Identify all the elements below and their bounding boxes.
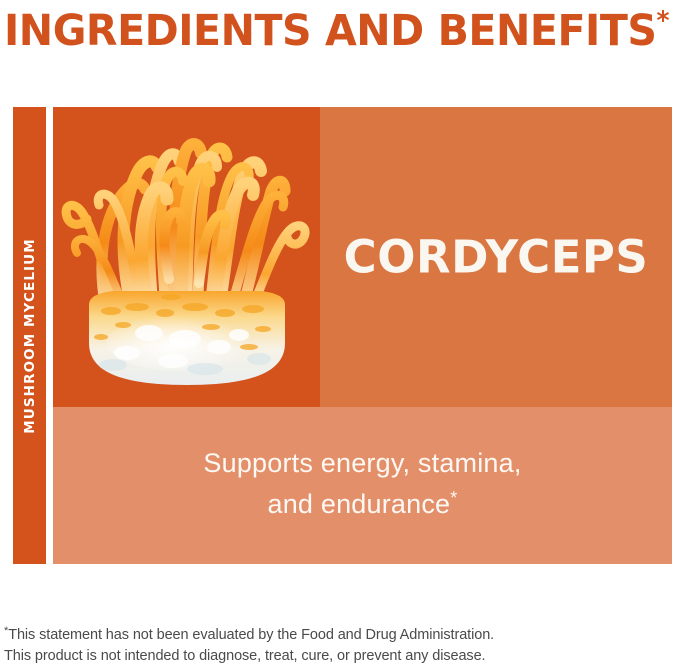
ingredient-name: CORDYCEPS <box>320 231 672 284</box>
ingredient-name-panel: CORDYCEPS <box>320 107 672 407</box>
benefit-asterisk: * <box>450 488 457 508</box>
page-title: INGREDIENTS AND BENEFITS* <box>4 0 646 44</box>
cordyceps-mushroom-icon <box>53 107 320 407</box>
benefit-band: Supports energy, stamina, and endurance* <box>53 407 672 564</box>
cordyceps-photo-panel <box>53 107 320 407</box>
page-title-text: INGREDIENTS AND BENEFITS <box>4 6 656 56</box>
benefit-line-2: and endurance <box>268 489 451 519</box>
page-title-asterisk: * <box>656 6 669 36</box>
fda-disclaimer-line-1-text: This statement has not been evaluated by… <box>8 627 494 643</box>
mushroom-mycelium-label: MUSHROOM MYCELIUM <box>22 238 38 433</box>
benefit-line-1: Supports energy, stamina, <box>203 448 521 478</box>
fda-disclaimer: *This statement has not been evaluated b… <box>4 621 624 667</box>
card-top-row: CORDYCEPS <box>53 107 672 407</box>
benefit-text: Supports energy, stamina, and endurance* <box>203 446 521 526</box>
ingredient-card: CORDYCEPS Supports energy, stamina, and … <box>53 107 672 564</box>
fda-disclaimer-line-2: This product is not intended to diagnose… <box>4 646 624 667</box>
fda-disclaimer-line-1: *This statement has not been evaluated b… <box>4 621 624 646</box>
mushroom-mycelium-tab: MUSHROOM MYCELIUM <box>13 107 46 564</box>
